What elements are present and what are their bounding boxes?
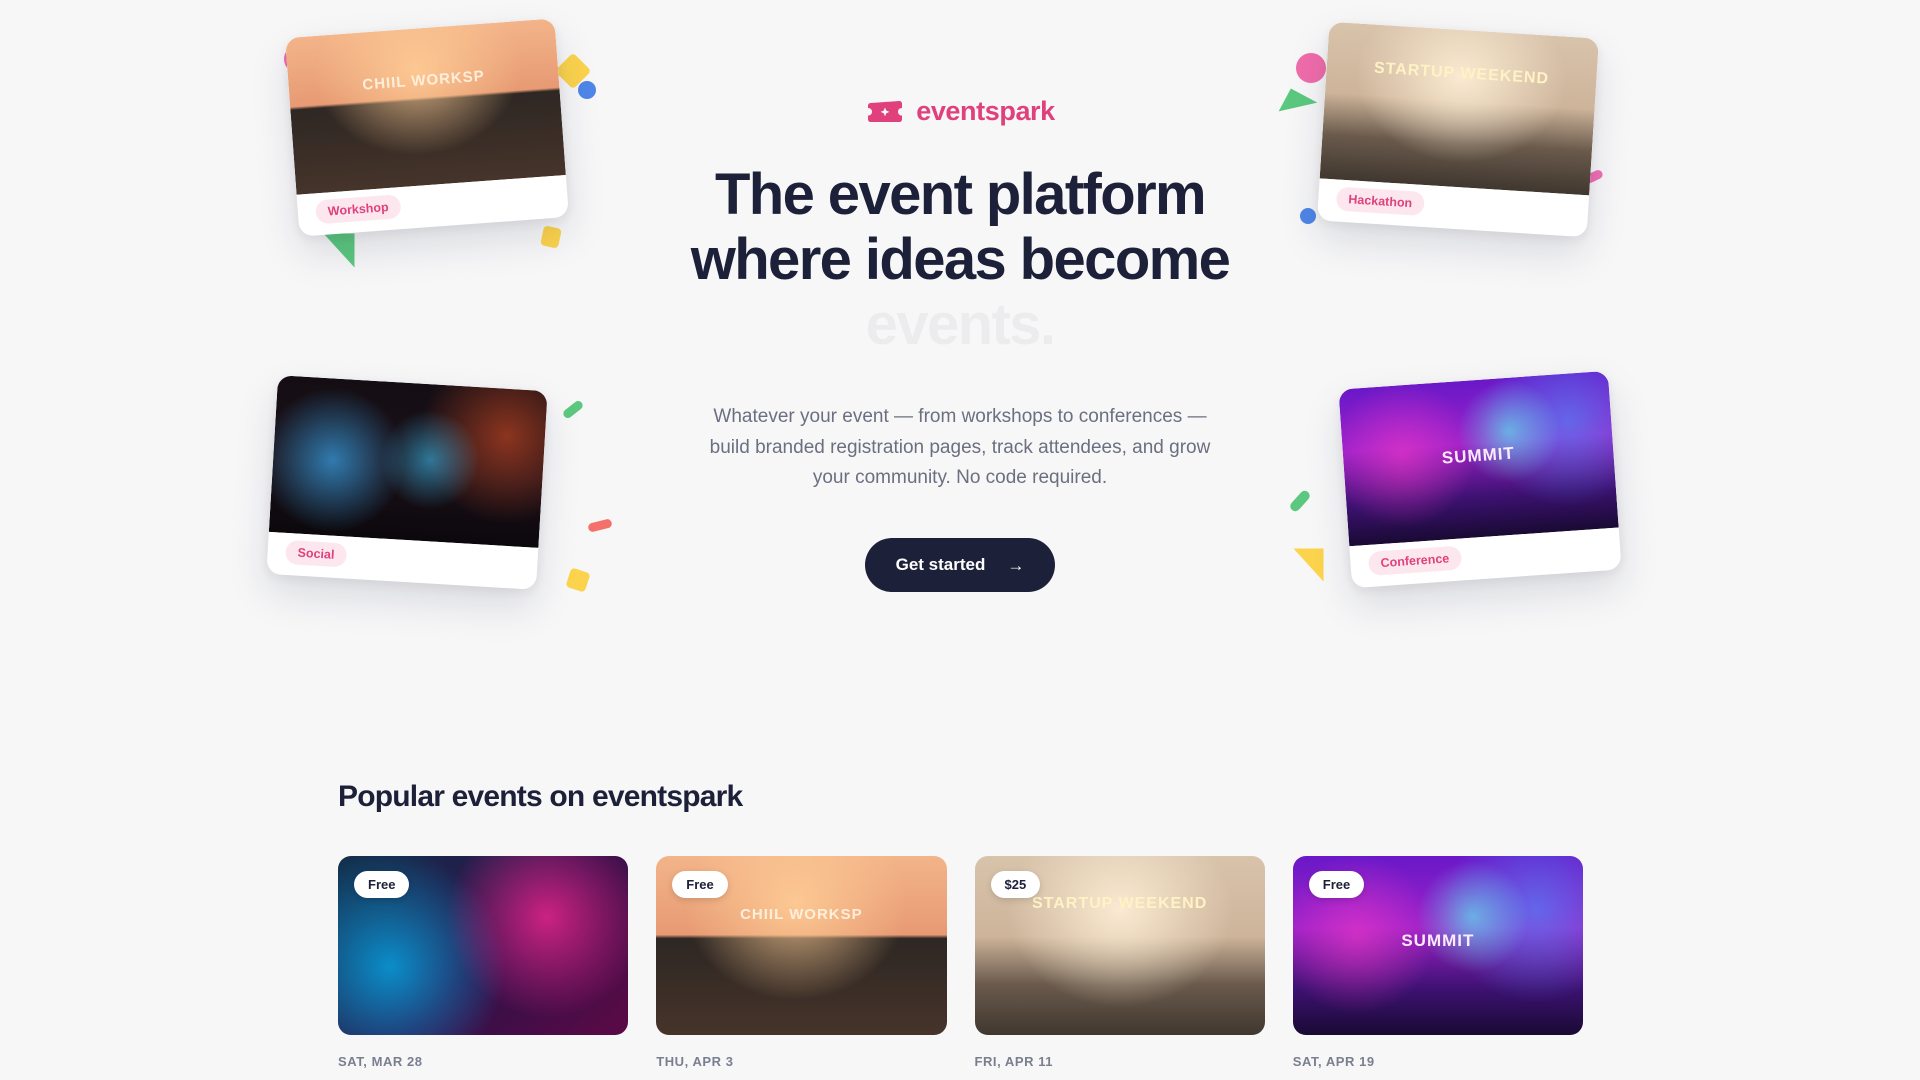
page-root: CHIIL WORKSP Workshop STARTUP WEEKEND Ha…: [0, 0, 1920, 1080]
event-card[interactable]: Free SAT, MAR 28 AI hackathon: [338, 856, 628, 1080]
floating-card-chip: Hackathon: [1336, 187, 1425, 216]
event-thumbnail: Free: [338, 856, 628, 1035]
floating-card-chip: Social: [285, 540, 347, 568]
ticket-icon: [865, 99, 905, 125]
event-date: THU, APR 3: [656, 1054, 946, 1069]
floating-card-chip: Workshop: [315, 194, 401, 224]
arrow-right-icon: →: [1007, 557, 1024, 574]
floating-card-thumbnail: CHIIL WORKSP: [285, 18, 566, 194]
photo-workshop: CHIIL WORKSP: [285, 18, 566, 194]
event-thumbnail: CHIIL WORKSP Free: [656, 856, 946, 1035]
event-date: SAT, MAR 28: [338, 1054, 628, 1069]
floating-card-workshop[interactable]: CHIIL WORKSP Workshop: [285, 18, 569, 236]
photo-caption: CHIIL WORKSP: [656, 906, 946, 923]
floating-card-chip: Conference: [1368, 546, 1462, 576]
hero-section: eventspark The event platform where idea…: [580, 96, 1340, 592]
page-title: The event platform where ideas become ev…: [580, 163, 1340, 358]
hero-subtitle: Whatever your event — from workshops to …: [700, 402, 1220, 494]
price-badge: Free: [672, 871, 727, 898]
get-started-button[interactable]: Get started →: [865, 538, 1056, 592]
price-badge: Free: [1309, 871, 1364, 898]
floating-card-thumbnail: [269, 375, 548, 548]
headline-line-3: events.: [580, 293, 1340, 358]
event-card[interactable]: SUMMIT Free SAT, APR 19 Vibe coding summ…: [1293, 856, 1583, 1080]
event-date: FRI, APR 11: [975, 1054, 1265, 1069]
photo-caption: SUMMIT: [1343, 437, 1614, 476]
get-started-label: Get started: [896, 555, 986, 575]
photo-caption: STARTUP WEEKEND: [1326, 56, 1597, 91]
price-badge: Free: [354, 871, 409, 898]
photo-caption: STARTUP WEEKEND: [975, 895, 1265, 913]
photo-neon-lounge: [269, 375, 548, 548]
event-thumbnail: SUMMIT Free: [1293, 856, 1583, 1035]
brand-logo[interactable]: eventspark: [580, 96, 1340, 127]
headline-line-1: The event platform: [715, 162, 1205, 227]
brand-name: eventspark: [916, 96, 1055, 127]
decor-square-yellow-left: [540, 225, 562, 248]
event-thumbnail: STARTUP WEEKEND $25: [975, 856, 1265, 1035]
photo-summit: SUMMIT: [1338, 371, 1618, 546]
event-date: SAT, APR 19: [1293, 1054, 1583, 1069]
photo-caption: [278, 375, 548, 391]
popular-events-section: Popular events on eventspark Free SAT, M…: [338, 780, 1583, 1080]
floating-card-hackathon[interactable]: STARTUP WEEKEND Hackathon: [1317, 22, 1599, 238]
photo-startup-weekend: STARTUP WEEKEND: [1320, 22, 1599, 196]
floating-card-social[interactable]: Social: [266, 375, 547, 590]
price-badge: $25: [991, 871, 1041, 898]
floating-card-thumbnail: SUMMIT: [1338, 371, 1618, 546]
photo-caption: SUMMIT: [1293, 931, 1583, 951]
event-card[interactable]: CHIIL WORKSP Free THU, APR 3 Chill works…: [656, 856, 946, 1080]
floating-card-conference[interactable]: SUMMIT Conference: [1338, 371, 1621, 588]
photo-caption: CHIIL WORKSP: [288, 62, 559, 99]
decor-circle-pink-right: [1296, 53, 1326, 83]
section-title: Popular events on eventspark: [338, 780, 1583, 814]
event-card[interactable]: STARTUP WEEKEND $25 FRI, APR 11 Startup …: [975, 856, 1265, 1080]
popular-events-grid: Free SAT, MAR 28 AI hackathon CHIIL WORK…: [338, 856, 1583, 1080]
headline-line-2: where ideas become: [691, 227, 1230, 292]
floating-card-thumbnail: STARTUP WEEKEND: [1320, 22, 1599, 196]
decor-triangle-green-left: [324, 234, 355, 268]
